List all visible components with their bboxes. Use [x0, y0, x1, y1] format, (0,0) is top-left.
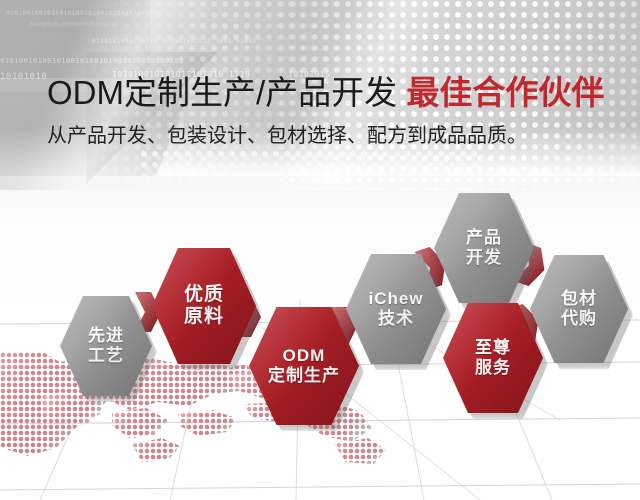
hex-label-n3-2: 定制生产 — [268, 366, 340, 386]
hex-label-n6-1: 至尊 — [475, 338, 511, 358]
hex-label-n7-1: 包材 — [561, 289, 597, 309]
hex-label-n1-2: 工艺 — [88, 346, 124, 366]
binary-code-strip-7: 0101001010010100101001010 — [30, 22, 118, 28]
binary-code-strip-4: 10101010 — [0, 72, 47, 82]
headline-accent: 最佳合作伙伴 — [406, 74, 604, 111]
odm-promo-banner: 0101001010010100101001010 01010010010100… — [0, 0, 640, 500]
halftone-dots-lower — [140, 150, 480, 210]
binary-code-strip-3: 010100101001010010100101001010010100101 — [0, 57, 184, 65]
hex-label-n2-2: 原料 — [184, 306, 224, 328]
hex-label-n4-1: iChew — [368, 289, 423, 309]
hex-label-n1-1: 先进 — [88, 326, 124, 346]
hex-label-n2-1: 优质 — [184, 284, 224, 306]
banner-headline: ODM定制生产/产品开发 最佳合作伙伴 — [47, 73, 604, 113]
hex-label-n5-1: 产品 — [466, 228, 502, 248]
hex-label-n7-2: 代购 — [561, 309, 597, 329]
hex-label-n5-2: 开发 — [466, 248, 502, 268]
binary-code-strip-1: 01010010010100101001010010100101001010 — [6, 10, 162, 17]
hex-label-n4-2: 技术 — [378, 309, 414, 329]
hex-label-n3-1: ODM — [283, 346, 326, 366]
headline-main: ODM定制生产/产品开发 — [47, 74, 397, 111]
binary-code-strip-2: 0100101001010010 100101001010 1001 01001 — [92, 38, 257, 45]
banner-subtitle: 从产品开发、包装设计、包材选择、配方到成品品质。 — [47, 122, 527, 150]
hex-label-n6-2: 服务 — [475, 358, 511, 378]
